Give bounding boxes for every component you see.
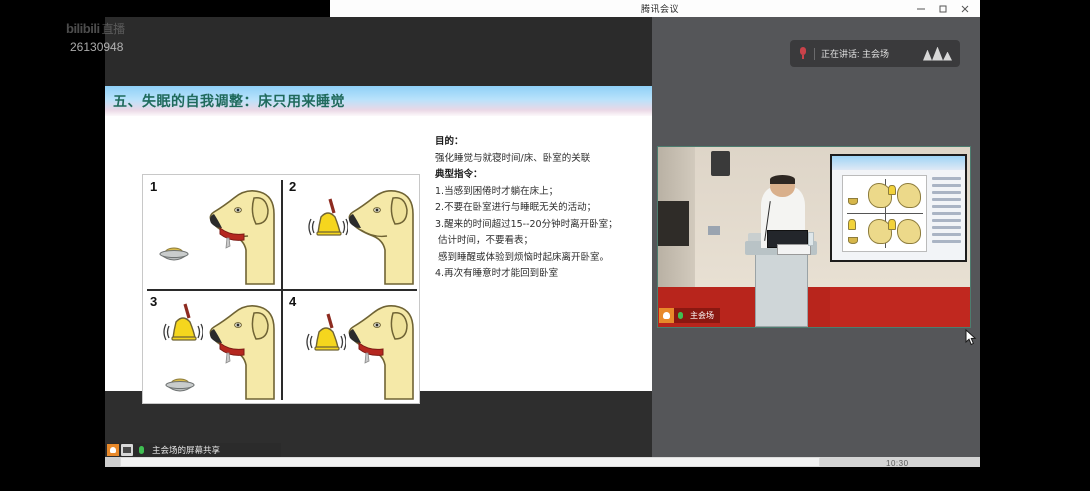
dog-drooling-illustration <box>333 299 417 403</box>
speaking-indicator: 正在讲话: 主会场 <box>790 40 960 67</box>
watermark-room-id: 26130948 <box>70 40 226 54</box>
slide-text-column: 目的： 强化睡觉与就寝时间/床、卧室的关联 典型指令： 1.当感到困倦时才躺在床… <box>435 134 647 283</box>
slide-header: 五、失眠的自我调整：床只用来睡觉 <box>105 86 652 116</box>
projected-text-block <box>932 177 961 248</box>
screen-icon <box>121 444 133 456</box>
text-line: 2.不要在卧室进行与睡眠无关的活动； <box>435 200 647 217</box>
text-line: 强化睡觉与就寝时间/床、卧室的关联 <box>435 151 647 168</box>
presenter-video-tile[interactable]: 主会场 <box>657 146 971 328</box>
user-icon <box>659 308 674 323</box>
ceiling-speaker <box>711 151 730 176</box>
window-title: 腾讯会议 <box>330 2 910 15</box>
panel-number: 1 <box>150 179 157 194</box>
speaking-label: 正在讲话: 主会场 <box>821 47 889 60</box>
dog-drooling-illustration <box>194 184 278 288</box>
window-title-bar: 腾讯会议 <box>330 0 980 17</box>
video-name-badge: 主会场 <box>659 308 720 323</box>
dog-illustration <box>333 184 417 288</box>
dog-drooling-illustration <box>194 299 278 403</box>
watermark-brand-row: bilibili 直播 <box>66 20 226 37</box>
watermark-brand: bilibili <box>66 21 100 36</box>
presenter-hair <box>770 175 795 184</box>
diagram-panel-2: 2 <box>282 175 421 290</box>
ringing-bell-icon <box>163 302 197 348</box>
text-line: 典型指令： <box>435 167 647 184</box>
divider <box>814 48 815 60</box>
scrollbar-thumb[interactable] <box>120 457 820 467</box>
right-letterbox <box>980 0 1090 491</box>
watermark-suffix: 直播 <box>102 20 125 37</box>
slide-body: 1 <box>105 116 652 391</box>
panel-number: 3 <box>150 294 157 309</box>
microphone-icon <box>135 444 147 456</box>
wall-panel <box>708 226 720 235</box>
panel-number: 2 <box>289 179 296 194</box>
maximize-button[interactable] <box>932 0 954 17</box>
screen-stage: 腾讯会议 bilibili 直播 26130948 正在讲话: 主会场 <box>0 0 1090 491</box>
name-placard <box>777 244 811 255</box>
text-line: 3.醒来的时间超过15--20分钟时离开卧室； <box>435 217 647 234</box>
close-button[interactable] <box>954 0 976 17</box>
video-participant-name: 主会场 <box>687 310 714 321</box>
podium <box>755 246 808 327</box>
text-line: 目的： <box>435 134 647 151</box>
diagram-panel-3: 3 <box>143 290 282 405</box>
shared-slide: 五、失眠的自我调整：床只用来睡觉 1 <box>105 86 652 391</box>
panel-number: 4 <box>289 294 296 309</box>
audio-waveform-icon <box>923 47 952 61</box>
horizontal-scrollbar[interactable] <box>105 457 980 467</box>
water-bottle <box>808 232 814 246</box>
room-dark-alcove <box>658 201 689 246</box>
food-bowl-icon <box>163 377 197 397</box>
window-controls <box>910 0 980 17</box>
microphone-icon <box>674 308 687 323</box>
diagram-panel-1: 1 <box>143 175 282 290</box>
mouse-cursor <box>965 329 977 346</box>
food-bowl-icon <box>157 246 191 266</box>
microphone-icon <box>798 47 808 61</box>
minimize-button[interactable] <box>910 0 932 17</box>
bottom-letterbox <box>0 467 1090 491</box>
text-line: 4.再次有睡意时才能回到卧室 <box>435 266 647 283</box>
left-letterbox <box>0 0 105 491</box>
conditioning-diagram: 1 <box>142 174 420 404</box>
bilibili-watermark: bilibili 直播 26130948 <box>66 20 226 54</box>
share-status-label: 主会场的屏幕共享 <box>149 444 220 456</box>
diagram-panel-4: 4 <box>282 290 421 405</box>
text-line: 估计时间，不要看表； <box>435 233 647 250</box>
text-line: 1.当感到困倦时才躺在床上； <box>435 184 647 201</box>
projected-diagram <box>842 175 927 252</box>
text-line: 感到睡醒或体验到烦恼时起床离开卧室。 <box>435 250 647 267</box>
slide-title: 五、失眠的自我调整：床只用来睡觉 <box>105 91 345 111</box>
projection-screen <box>830 154 967 262</box>
screen-share-status-bar: 主会场的屏幕共享 <box>105 443 281 457</box>
user-icon <box>107 444 119 456</box>
